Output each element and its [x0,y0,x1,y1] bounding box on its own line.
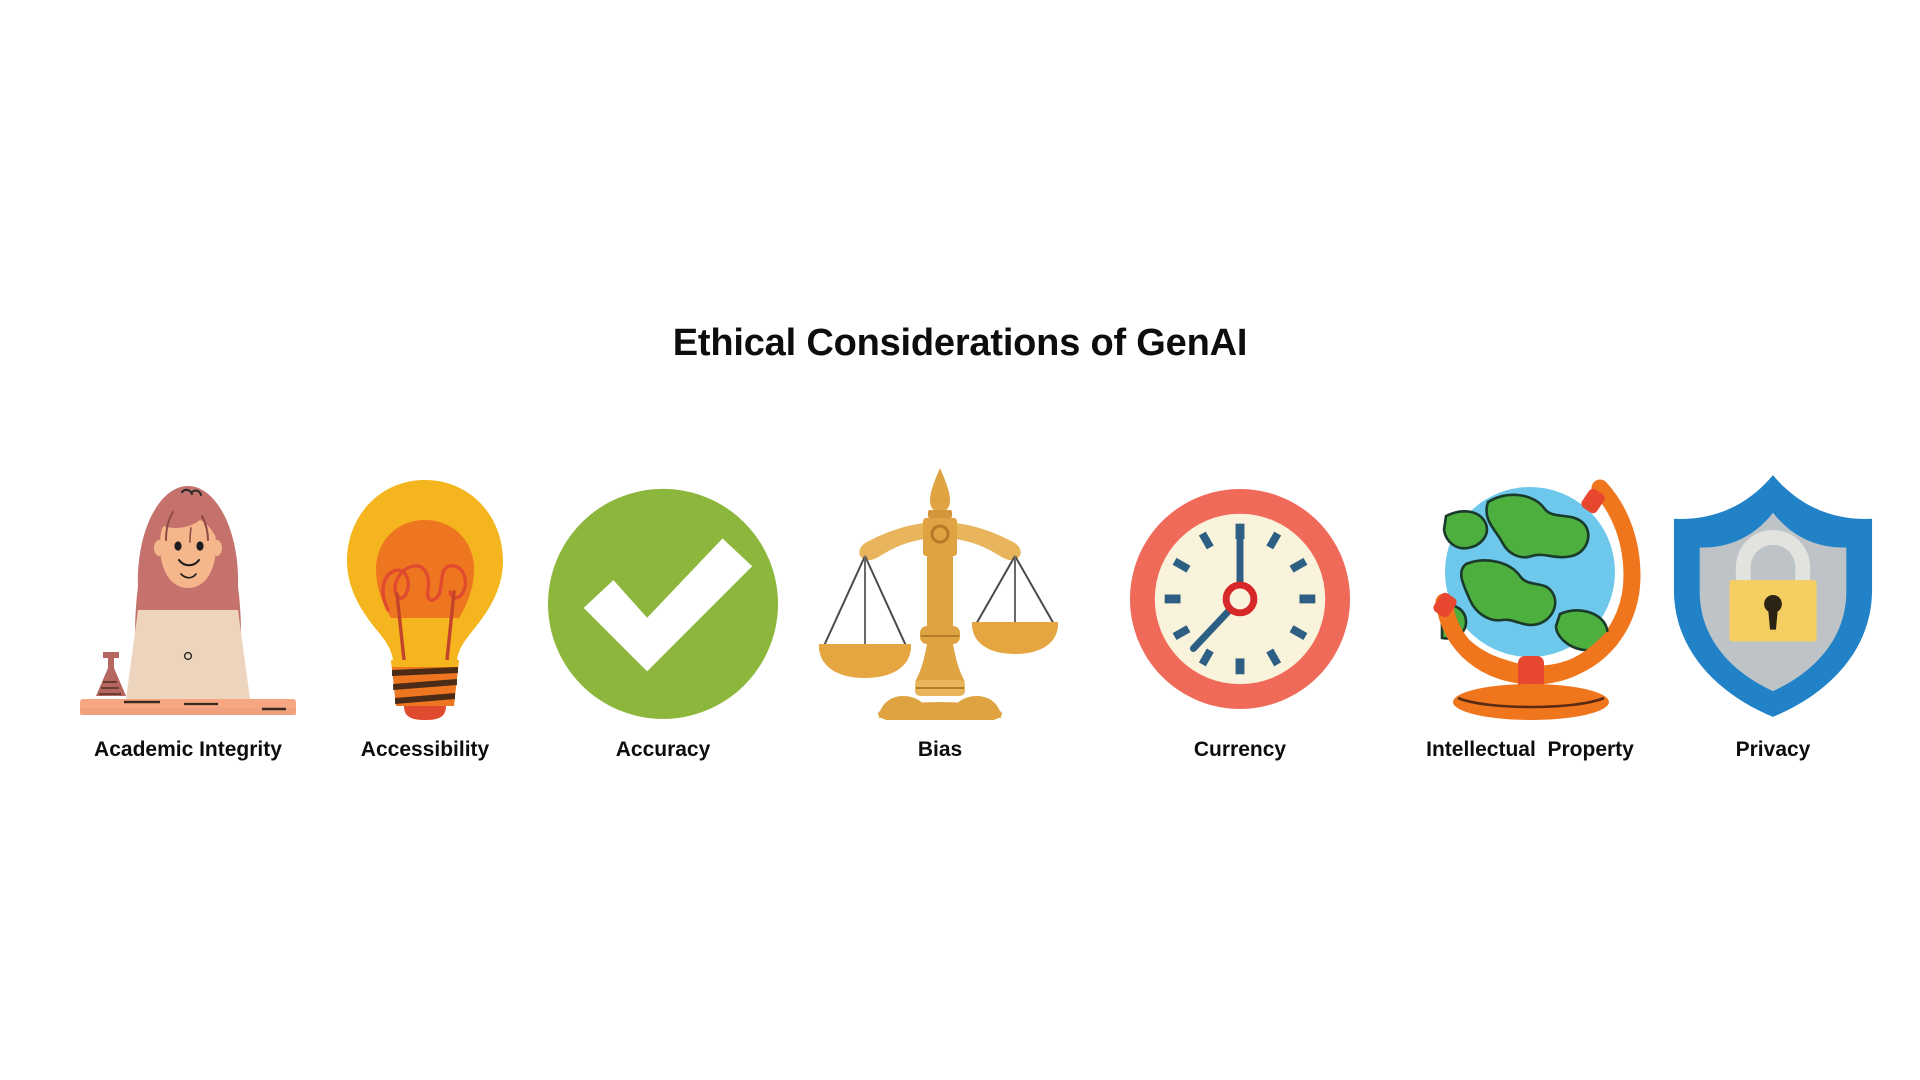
shield-lock-icon [1668,458,1878,720]
item-label: Academic Integrity [78,738,298,761]
item-academic-integrity[interactable]: Academic Integrity [78,458,298,778]
item-privacy[interactable]: Privacy [1668,458,1878,778]
icon-row: Academic Integrity [0,458,1920,778]
item-label: Currency [1130,738,1350,761]
item-accessibility[interactable]: Accessibility [330,458,520,778]
balance-scale-icon [815,458,1065,720]
lightbulb-icon [330,458,520,720]
check-circle-icon [548,458,778,720]
item-accuracy[interactable]: Accuracy [548,458,778,778]
item-label: Intellectual Property [1380,738,1680,761]
slide-canvas: Ethical Considerations of GenAI [0,0,1920,1080]
student-at-laptop-icon [78,458,298,720]
globe-icon [1380,458,1680,720]
item-label: Accuracy [548,738,778,761]
page-title: Ethical Considerations of GenAI [0,322,1920,365]
item-label: Accessibility [330,738,520,761]
item-currency[interactable]: Currency [1130,458,1350,778]
item-bias[interactable]: Bias [815,458,1065,778]
clock-icon [1130,458,1350,720]
item-label: Privacy [1668,738,1878,761]
item-intellectual-property[interactable]: Intellectual Property [1380,458,1680,778]
item-label: Bias [815,738,1065,761]
